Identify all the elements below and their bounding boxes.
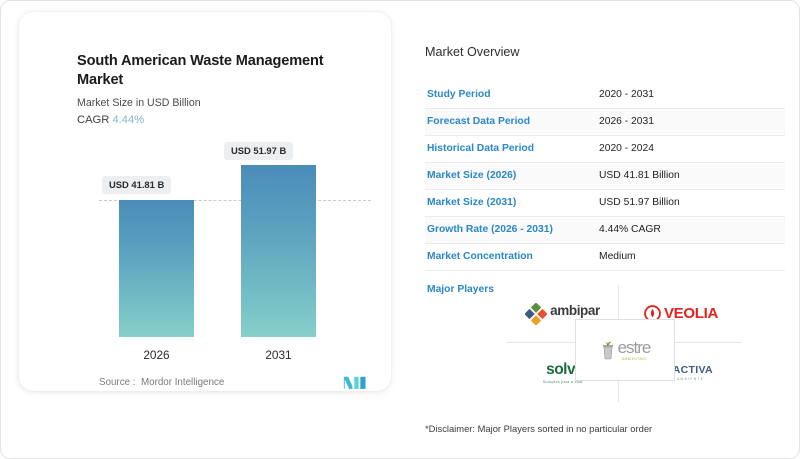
bar-2031 bbox=[241, 165, 316, 337]
row-value: Medium bbox=[597, 243, 785, 270]
table-row: Market Size (2031) USD 51.97 Billion bbox=[425, 189, 785, 216]
chart-cagr: CAGR 4.44% bbox=[77, 114, 144, 126]
cagr-value: 4.44% bbox=[112, 114, 144, 126]
major-players-label: Major Players bbox=[427, 284, 494, 295]
bar-label-2031: USD 51.97 B bbox=[224, 142, 293, 160]
table-row: Market Concentration Medium bbox=[425, 243, 785, 270]
source-name: Mordor Intelligence bbox=[141, 377, 224, 388]
row-key: Study Period bbox=[425, 81, 597, 108]
estre-bin-icon bbox=[600, 340, 616, 360]
source-label: Source : bbox=[99, 377, 136, 388]
mordor-intelligence-logo-icon bbox=[343, 374, 369, 390]
row-key: Market Concentration bbox=[425, 243, 597, 270]
table-row: Forecast Data Period 2026 - 2031 bbox=[425, 108, 785, 135]
bar-chart-plot-area: USD 41.81 B USD 51.97 B 2026 2031 bbox=[77, 142, 367, 347]
table-row: Growth Rate (2026 - 2031) 4.44% CAGR bbox=[425, 216, 785, 243]
row-value: 2020 - 2024 bbox=[597, 135, 785, 162]
x-tick-2026: 2026 bbox=[119, 348, 194, 362]
chart-card: South American Waste Management Market M… bbox=[19, 12, 391, 391]
players-disclaimer: *Disclaimer: Major Players sorted in no … bbox=[425, 423, 652, 434]
major-players-logo-grid: ambipar GROUP VEOLIA solví Soluções para… bbox=[507, 285, 742, 405]
table-row: Study Period 2020 - 2031 bbox=[425, 81, 785, 108]
row-key: Historical Data Period bbox=[425, 135, 597, 162]
row-value: 2020 - 2031 bbox=[597, 81, 785, 108]
x-tick-2031: 2031 bbox=[241, 348, 316, 362]
table-row: Historical Data Period 2020 - 2024 bbox=[425, 135, 785, 162]
ambipar-name: ambipar bbox=[550, 304, 600, 318]
chart-subtitle: Market Size in USD Billion bbox=[77, 97, 201, 109]
cagr-label: CAGR bbox=[77, 114, 109, 126]
row-value: USD 51.97 Billion bbox=[597, 189, 785, 216]
estre-name: estre bbox=[618, 339, 651, 356]
bar-2026 bbox=[119, 200, 194, 337]
row-value: 4.44% CAGR bbox=[597, 216, 785, 243]
market-overview-panel: Market Overview Study Period 2020 - 2031… bbox=[425, 45, 785, 271]
market-overview-table: Study Period 2020 - 2031 Forecast Data P… bbox=[425, 81, 785, 271]
row-key: Market Size (2031) bbox=[425, 189, 597, 216]
market-overview-title: Market Overview bbox=[425, 45, 785, 59]
source-row: Source : Mordor Intelligence bbox=[99, 374, 369, 390]
estre-sub: AMBIENTAIS bbox=[618, 357, 651, 361]
player-logo-estre: estre AMBIENTAIS bbox=[575, 319, 675, 381]
row-value: 2026 - 2031 bbox=[597, 108, 785, 135]
ambipar-diamond-icon bbox=[525, 303, 547, 325]
bar-label-2026: USD 41.81 B bbox=[102, 176, 171, 194]
row-key: Growth Rate (2026 - 2031) bbox=[425, 216, 597, 243]
screenshot-root: South American Waste Management Market M… bbox=[0, 0, 800, 459]
row-key: Market Size (2026) bbox=[425, 162, 597, 189]
row-key: Forecast Data Period bbox=[425, 108, 597, 135]
table-row: Market Size (2026) USD 41.81 Billion bbox=[425, 162, 785, 189]
row-value: USD 41.81 Billion bbox=[597, 162, 785, 189]
source-text: Source : Mordor Intelligence bbox=[99, 377, 224, 388]
chart-title: South American Waste Management Market bbox=[77, 52, 337, 91]
